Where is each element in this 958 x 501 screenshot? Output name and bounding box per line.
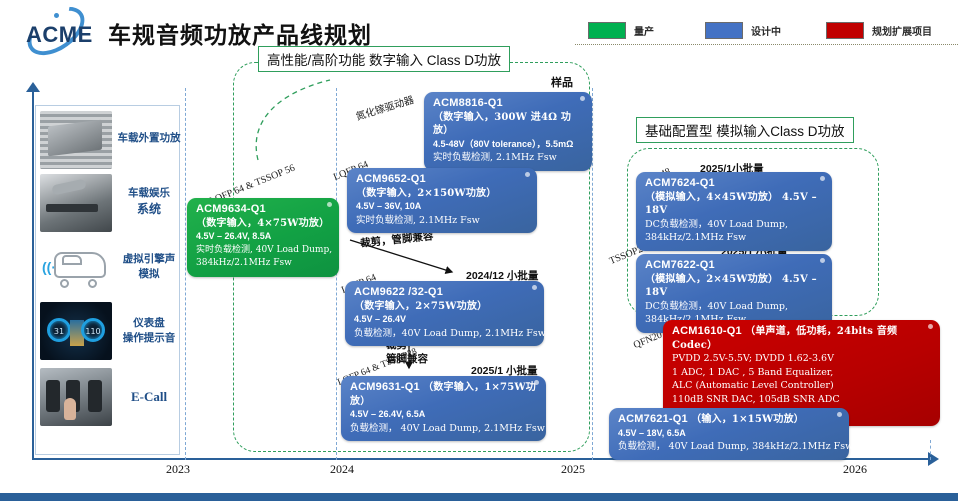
product-line-acm1610-0: PVDD 2.5V-5.5V; DVDD 1.62-3.6V (672, 352, 932, 366)
product-line-acm9652-1: 实时负载检测, 2.1MHz Fsw (356, 214, 529, 228)
product-card-acm7624[interactable]: ACM7624-Q1 （模拟输入，4×45W功放） 4.5V – 18V DC负… (636, 172, 832, 251)
product-card-acm9622[interactable]: ACM9622 /32-Q1 （数字输入，2×75W功放） 4.5V – 26.… (345, 281, 544, 346)
product-pn-acm9622: ACM9622 /32-Q1 (354, 286, 443, 298)
product-line-acm7621-1: 负载检测， 40V Load Dump, 384kHz/2.1MHz Fsw (618, 440, 841, 454)
product-line-acm9634-2: 384kHz/2.1MHz Fsw (196, 257, 331, 271)
product-desc-acm7622: （模拟输入，2×45W功放） 4.5V – 18V (645, 273, 824, 300)
product-desc-acm9634: （数字输入，4×75W功放） (196, 217, 331, 231)
product-desc-acm7621: （输入，1×15W功放） (691, 414, 804, 425)
product-pn-acm9652: ACM9652-Q1 (356, 173, 426, 185)
product-line-acm9622-1: 负载检测，40V Load Dump, 2.1MHz Fsw (354, 327, 536, 341)
product-card-acm9631[interactable]: ACM9631-Q1 （数字输入，1×75W功放） 4.5V – 26.4V, … (341, 376, 546, 441)
product-line-acm1610-2: ALC (Automatic Level Controller) (672, 379, 932, 393)
product-pn-acm7621: ACM7621-Q1 (618, 413, 688, 425)
product-card-acm8816[interactable]: ACM8816-Q1 （数字输入，300W 进4Ω 功放） 4.5-48V（80… (424, 92, 592, 171)
product-line-acm9634-0: 4.5V – 26.4V, 8.5A (196, 230, 331, 244)
roadmap-canvas: ACME 车规音频功放产品线规划 量产 设计中 规划扩展项目 2023 2024… (0, 0, 958, 501)
product-pn-acm9631: ACM9631-Q1 (350, 381, 420, 393)
product-line-acm8816-1: 实时负载检测, 2.1MHz Fsw (433, 151, 584, 165)
product-pn-acm7624: ACM7624-Q1 (645, 177, 715, 189)
product-line-acm9634-1: 实时负载检测, 40V Load Dump, (196, 244, 331, 258)
product-line-acm1610-3: 110dB SNR DAC, 105dB SNR ADC (672, 393, 932, 407)
product-line-acm8816-0: 4.5-48V（80V tolerance），5.5mΩ (433, 138, 584, 152)
product-line-acm9631-1: 负载检测， 40V Load Dump, 2.1MHz Fsw (350, 422, 538, 436)
product-pn-acm8816: ACM8816-Q1 (433, 97, 503, 109)
product-desc-acm7624: （模拟输入，4×45W功放） 4.5V – 18V (645, 191, 824, 218)
product-line-acm7621-0: 4.5V – 18V, 6.5A (618, 427, 841, 441)
product-line-acm9652-0: 4.5V – 36V, 10A (356, 200, 529, 214)
product-line-acm1610-1: 1 ADC, 1 DAC , 5 Band Equalizer, (672, 366, 932, 380)
product-line-acm7622-0: DC负载检测，40V Load Dump, (645, 300, 824, 314)
product-card-acm7621[interactable]: ACM7621-Q1 （输入，1×15W功放） 4.5V – 18V, 6.5A… (609, 408, 849, 460)
product-card-acm9652[interactable]: ACM9652-Q1 （数字输入，2×150W功放） 4.5V – 36V, 1… (347, 168, 537, 233)
footer-bar (0, 493, 958, 501)
product-desc-acm9652: （数字输入，2×150W功放） (356, 187, 529, 201)
product-pn-acm1610: ACM1610-Q1 (672, 325, 742, 337)
product-pn-acm9634: ACM9634-Q1 (196, 203, 266, 215)
product-line-acm7624-1: 384kHz/2.1MHz Fsw (645, 231, 824, 245)
product-pn-acm7622: ACM7622-Q1 (645, 259, 715, 271)
product-line-acm9631-0: 4.5V – 26.4V, 6.5A (350, 408, 538, 422)
product-card-acm9634[interactable]: ACM9634-Q1 （数字输入，4×75W功放） 4.5V – 26.4V, … (187, 198, 339, 277)
product-line-acm7624-0: DC负载检测，40V Load Dump, (645, 218, 824, 232)
product-line-acm9622-0: 4.5V – 26.4V (354, 313, 536, 327)
product-desc-acm9622: （数字输入，2×75W功放） (354, 300, 536, 314)
product-desc-acm8816: （数字输入，300W 进4Ω 功放） (433, 111, 584, 138)
